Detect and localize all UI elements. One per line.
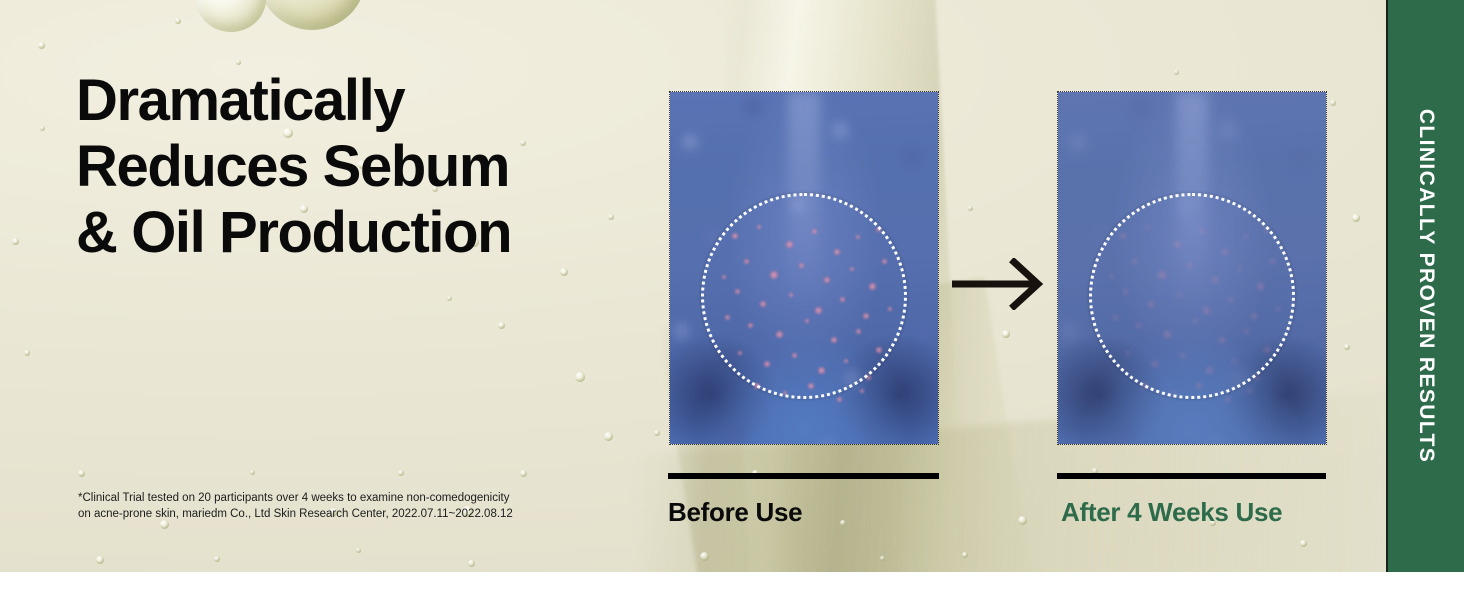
side-panel-label: CLINICALLY PROVEN RESULTS [1414, 109, 1438, 463]
oil-bubble [498, 322, 505, 329]
banner-stage: Dramatically Reduces Sebum & Oil Product… [0, 0, 1464, 600]
oil-bubble [214, 556, 220, 562]
oil-bubble [654, 430, 660, 436]
after-photo [1058, 92, 1326, 444]
oil-bubble [468, 560, 475, 567]
oil-bubble [175, 18, 181, 24]
oil-bubble [1352, 214, 1360, 222]
oil-bubble [447, 296, 452, 301]
oil-bubble [250, 470, 255, 475]
sebum-spot [837, 397, 842, 402]
oil-bubble [560, 268, 568, 276]
oil-bubble [1330, 100, 1336, 106]
oil-bubble [356, 548, 361, 553]
sebum-spot [1225, 397, 1230, 402]
oil-bubble [24, 350, 30, 356]
oil-bubble [700, 552, 709, 561]
oil-bubble [38, 42, 45, 49]
oil-bubble [1344, 344, 1350, 350]
page-title: Dramatically Reduces Sebum & Oil Product… [76, 68, 511, 266]
clinically-proven-panel: CLINICALLY PROVEN RESULTS [1386, 0, 1464, 572]
before-photo [670, 92, 938, 444]
oil-bubble [880, 556, 885, 561]
oil-bubble [1300, 540, 1307, 547]
oil-bubble [40, 126, 45, 131]
oil-bubble [1174, 70, 1179, 75]
after-caption-label: After 4 Weeks Use [1061, 497, 1282, 528]
oil-bubble [398, 470, 404, 476]
clinical-results-banner: Dramatically Reduces Sebum & Oil Product… [0, 0, 1464, 572]
before-caption-rule [668, 473, 939, 479]
measurement-circle-before [701, 193, 907, 399]
sebum-spot [1248, 389, 1252, 393]
sebum-spot [860, 389, 864, 393]
before-caption-label: Before Use [668, 497, 802, 528]
after-caption-rule [1057, 473, 1326, 479]
oil-bubble [1002, 330, 1010, 338]
oil-bubble [520, 470, 527, 477]
clinical-trial-disclaimer: *Clinical Trial tested on 20 participant… [78, 490, 513, 523]
oil-bubble [520, 140, 526, 146]
arrow-right-icon [950, 258, 1046, 310]
oil-bubble [604, 432, 613, 441]
oil-bubble [962, 552, 968, 558]
oil-bubble [78, 470, 85, 477]
oil-bubble [96, 556, 104, 564]
oil-bubble [236, 60, 241, 65]
measurement-circle-after [1089, 193, 1295, 399]
oil-bubble [608, 214, 614, 220]
oil-bubble [968, 206, 973, 211]
oil-bubble [1018, 516, 1027, 525]
oil-bubble [575, 372, 585, 382]
oil-bubble [12, 238, 19, 245]
oil-bubble [840, 520, 846, 526]
